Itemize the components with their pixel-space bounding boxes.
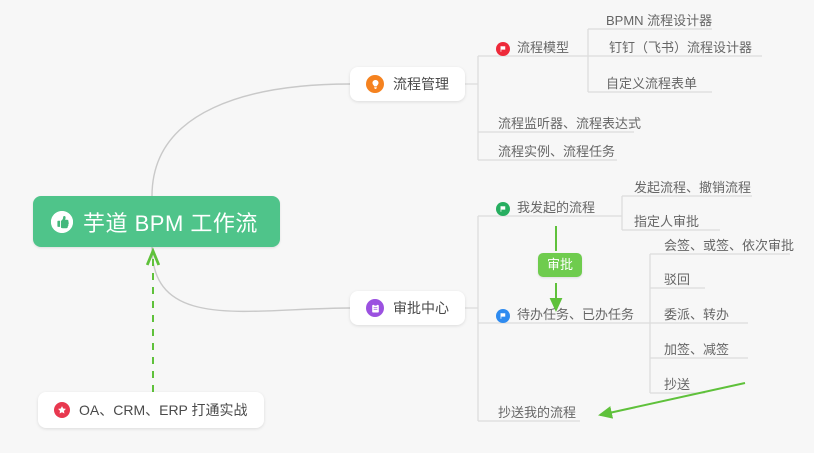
leaf-assignee-approval[interactable]: 指定人审批: [628, 210, 701, 232]
leaf-dingtalk-feishu-designer[interactable]: 钉钉（飞书）流程设计器: [603, 36, 754, 58]
leaf-label-delegate-transfer: 委派、转办: [664, 307, 729, 323]
thumbs-up-icon: [51, 211, 73, 233]
branch-label-approval-center: 审批中心: [393, 298, 449, 318]
wire-root-to-approval-center: [152, 247, 350, 311]
leaf-label-process-model: 流程模型: [517, 40, 569, 56]
leaf-label-todo-done-task: 待办任务、已办任务: [517, 307, 634, 323]
branch-label-process-management: 流程管理: [393, 74, 449, 94]
leaf-label-custom-process-form: 自定义流程表单: [606, 76, 697, 92]
flag-icon: [496, 42, 510, 56]
root-node[interactable]: 芋道 BPM 工作流: [33, 196, 280, 247]
leaf-listener-expression[interactable]: 流程监听器、流程表达式: [492, 112, 643, 134]
leaf-label-listener-expression: 流程监听器、流程表达式: [498, 116, 641, 132]
leaf-instance-task[interactable]: 流程实例、流程任务: [492, 140, 617, 162]
leaf-label-cc-to-me: 抄送我的流程: [498, 405, 576, 421]
leaf-process-model[interactable]: 流程模型: [492, 36, 571, 58]
leaf-bpmn-designer[interactable]: BPMN 流程设计器: [600, 9, 714, 31]
bottom-note-node[interactable]: OA、CRM、ERP 打通实战: [38, 392, 264, 428]
wire-process-model-bracket: [570, 29, 603, 92]
leaf-start-cancel-process[interactable]: 发起流程、撤销流程: [628, 176, 753, 198]
leaf-label-my-started-process: 我发起的流程: [517, 200, 595, 216]
leaf-todo-done-task[interactable]: 待办任务、已办任务: [492, 303, 636, 325]
wire-root-to-process-management: [152, 84, 350, 196]
flag-icon: [496, 202, 510, 216]
wire-todo-done-task-bracket: [640, 254, 658, 393]
flag-icon: [496, 309, 510, 323]
lightbulb-icon: [366, 75, 384, 93]
wire-approval-center-bracket: [463, 216, 492, 421]
leaf-label-bpmn-designer: BPMN 流程设计器: [606, 13, 712, 29]
leaf-label-countersign: 会签、或签、依次审批: [664, 238, 794, 254]
leaf-label-reject: 驳回: [664, 272, 690, 288]
leaf-cc[interactable]: 抄送: [658, 373, 692, 395]
leaf-my-started-process[interactable]: 我发起的流程: [492, 196, 597, 218]
leaf-countersign[interactable]: 会签、或签、依次审批: [658, 234, 796, 256]
approval-badge-label: 审批: [547, 257, 573, 272]
branch-node-process-management[interactable]: 流程管理: [350, 67, 465, 101]
leaf-label-instance-task: 流程实例、流程任务: [498, 144, 615, 160]
branch-node-approval-center[interactable]: 审批中心: [350, 291, 465, 325]
approval-badge: 审批: [538, 253, 582, 277]
root-label: 芋道 BPM 工作流: [83, 206, 258, 238]
leaf-reject[interactable]: 驳回: [658, 268, 692, 290]
leaf-label-cc: 抄送: [664, 377, 690, 393]
clipboard-icon: [366, 299, 384, 317]
star-icon: [54, 402, 70, 418]
leaf-label-add-remove-sign: 加签、减签: [664, 342, 729, 358]
leaf-delegate-transfer[interactable]: 委派、转办: [658, 303, 731, 325]
leaf-cc-to-me[interactable]: 抄送我的流程: [492, 401, 578, 423]
mindmap-canvas: 芋道 BPM 工作流 流程管理 流程模型 BPMN 流程设计器 钉钉（飞书）流程…: [0, 0, 814, 453]
leaf-add-remove-sign[interactable]: 加签、减签: [658, 338, 731, 360]
leaf-label-start-cancel-process: 发起流程、撤销流程: [634, 180, 751, 196]
bottom-note-label: OA、CRM、ERP 打通实战: [79, 400, 248, 420]
leaf-label-dingtalk-feishu-designer: 钉钉（飞书）流程设计器: [609, 40, 752, 56]
wire-process-management-bracket: [463, 56, 492, 160]
leaf-label-assignee-approval: 指定人审批: [634, 214, 699, 230]
wire-my-started-process-bracket: [613, 196, 628, 230]
leaf-custom-process-form[interactable]: 自定义流程表单: [600, 72, 699, 94]
